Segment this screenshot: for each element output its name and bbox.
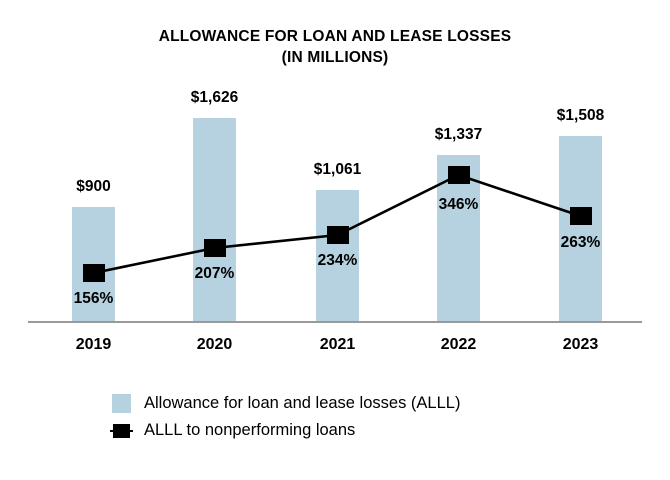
line-marker-2021	[327, 226, 349, 244]
x-axis-label-2019: 2019	[34, 336, 154, 354]
chart-container: ALLOWANCE FOR LOAN AND LEASE LOSSES (IN …	[0, 0, 670, 480]
pct-label-2019: 156%	[34, 290, 154, 308]
x-axis-label-2021: 2021	[278, 336, 398, 354]
square-marker-icon	[113, 424, 130, 438]
pct-label-2022: 346%	[399, 196, 519, 214]
x-axis-label-2020: 2020	[155, 336, 275, 354]
pct-label-2023: 263%	[521, 234, 641, 252]
x-axis-label-2023: 2023	[521, 336, 641, 354]
line-marker-2022	[448, 166, 470, 184]
line-marker-swatch-icon	[112, 421, 131, 440]
plot-area: $900 $1,626 $1,061 $1,337 $1,508 156% 20…	[0, 0, 670, 330]
legend-item-label-nonperforming: ALLL to nonperforming loans	[144, 421, 355, 440]
legend-item-alll: Allowance for loan and lease losses (ALL…	[112, 390, 460, 417]
chart-legend: Allowance for loan and lease losses (ALL…	[112, 390, 460, 444]
legend-item-nonperforming: ALLL to nonperforming loans	[112, 417, 460, 444]
pct-label-2020: 207%	[155, 265, 275, 283]
pct-label-2021: 234%	[278, 252, 398, 270]
line-marker-2020	[204, 239, 226, 257]
line-marker-2019	[83, 264, 105, 282]
x-axis-baseline	[28, 321, 642, 323]
legend-item-label-alll: Allowance for loan and lease losses (ALL…	[144, 394, 460, 413]
line-marker-2023	[570, 207, 592, 225]
bar-swatch-icon	[112, 394, 131, 413]
x-axis-label-2022: 2022	[399, 336, 519, 354]
